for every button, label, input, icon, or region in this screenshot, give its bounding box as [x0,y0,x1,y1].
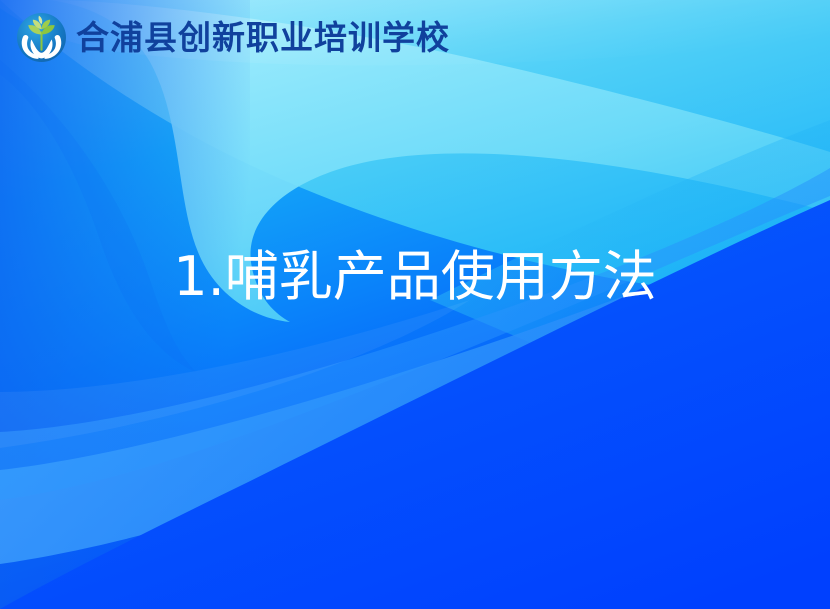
slide-header: 合浦县创新职业培训学校 [0,0,830,74]
school-name-title: 合浦县创新职业培训学校 [76,21,450,54]
hands-holding-sprout-icon [16,12,67,63]
presentation-slide: 合浦县创新职业培训学校 1.哺乳产品使用方法 [0,0,830,609]
slide-title: 1.哺乳产品使用方法 [173,246,657,308]
slide-title-container: 1.哺乳产品使用方法 [0,246,830,308]
